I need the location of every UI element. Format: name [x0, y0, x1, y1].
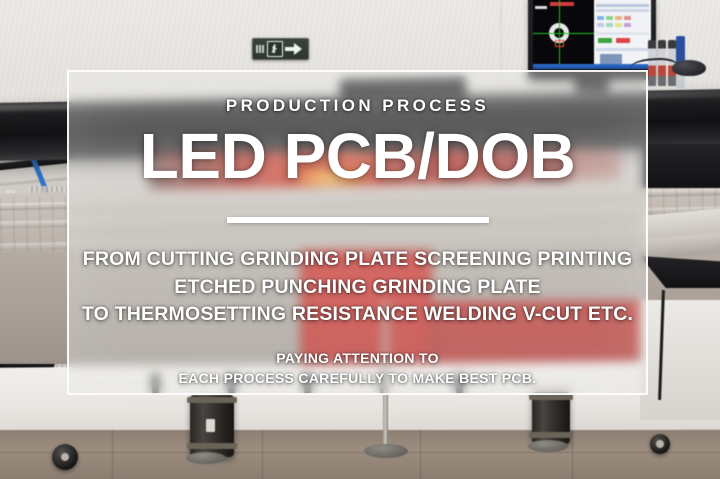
right-arrow-icon: [285, 43, 302, 55]
page-title: LED PCB/DOB: [69, 124, 646, 188]
running-man-icon: [267, 41, 283, 57]
mouse-device: [672, 60, 706, 76]
screenshot-root: PRODUCTION PROCESS LED PCB/DOB FROM CUTT…: [0, 0, 720, 479]
machine-foot: [528, 440, 568, 452]
process-step-line: FROM CUTTING GRINDING PLATE SCREENING PR…: [69, 246, 646, 274]
production-process-overlay: PRODUCTION PROCESS LED PCB/DOB FROM CUTT…: [67, 70, 648, 395]
kicker-text: PRODUCTION PROCESS: [69, 96, 646, 116]
drive-motor: [532, 392, 570, 444]
monitor-control-panel: [594, 0, 651, 69]
monitor-screen: [533, 0, 651, 69]
process-step-line: TO THERMOSETTING RESISTANCE WELDING V-CU…: [69, 301, 646, 329]
pole-foot: [364, 444, 408, 458]
title-divider: [227, 217, 489, 223]
attention-note-line: EACH PROCESS CAREFULLY TO MAKE BEST PCB.: [69, 368, 646, 388]
process-step-line: ETCHED PUNCHING GRINDING PLATE: [69, 274, 646, 302]
canvas-crosshair-v: [559, 0, 560, 69]
machine-foot: [186, 452, 226, 464]
process-steps-list: FROM CUTTING GRINDING PLATE SCREENING PR…: [69, 246, 646, 329]
attention-note-line: PAYING ATTENTION TO: [69, 348, 646, 368]
canvas-marker: [535, 6, 547, 9]
canvas-selection-box: [555, 40, 564, 47]
right-machine-frame: [646, 150, 720, 400]
exit-sign-dots: [256, 45, 265, 53]
caster-wheel: [52, 444, 78, 470]
emergency-exit-sign-icon: [252, 38, 309, 60]
canvas-title-bar: [550, 2, 574, 6]
inspection-monitor: [528, 0, 656, 80]
attention-note: PAYING ATTENTION TO EACH PROCESS CAREFUL…: [69, 348, 646, 389]
floor: [0, 430, 720, 479]
drive-motor: [190, 395, 234, 457]
canvas-crosshair-h: [533, 33, 594, 34]
caster-wheel: [650, 434, 670, 454]
monitor-canvas-area: [533, 0, 594, 69]
